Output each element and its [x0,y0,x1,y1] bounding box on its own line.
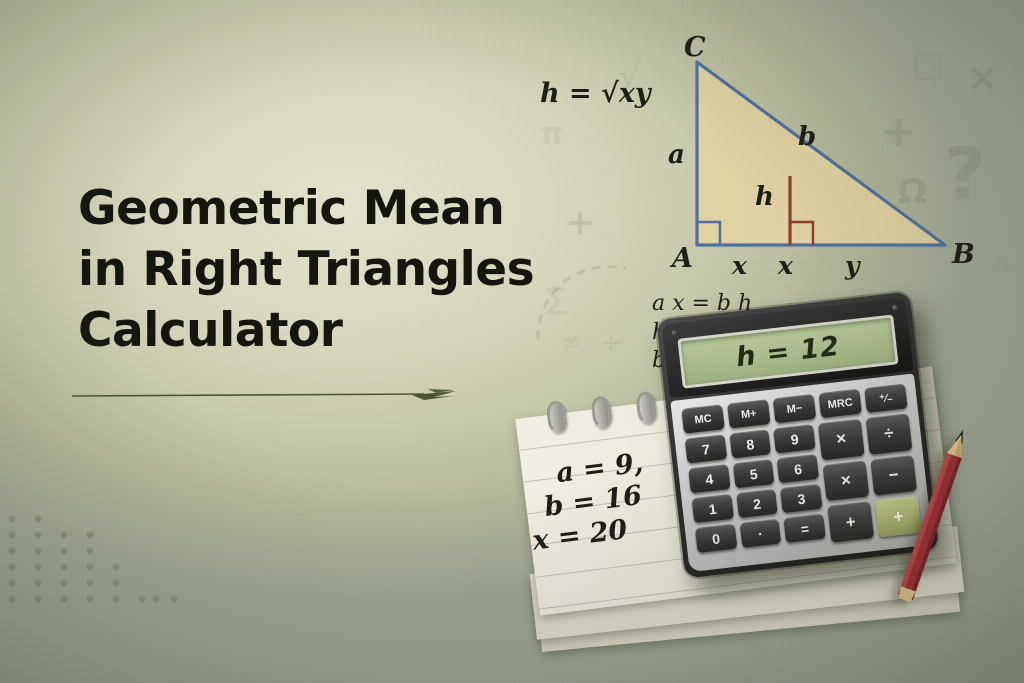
key-6[interactable]: 6 [777,454,819,483]
leg-label-b: b [798,122,816,152]
key-4[interactable]: 4 [688,464,730,493]
right-triangle-diagram: h = √xy C A B a b h x x y [520,34,1000,294]
operator-column-right: ÷ − + [866,413,922,537]
screw-icon [671,330,677,336]
leg-label-a: a [668,140,685,170]
formula-geometric-mean: h = √xy [540,78,651,109]
vertex-label-b: B [952,239,975,270]
key-9[interactable]: 9 [773,424,815,453]
key-5[interactable]: 5 [732,459,774,488]
key-plus-green[interactable]: + [875,496,922,537]
calculator-display: h = 12 [677,314,898,388]
key-2[interactable]: 2 [736,489,778,518]
key-8[interactable]: 8 [729,429,771,458]
poster-canvas: + ? ÷ × Ω π √ ∑ ≠ + □ ∴ Geometric Mean i… [0,0,1024,683]
page-title-line-1: Geometric Mean [78,178,548,239]
key-plus[interactable]: + [827,502,874,543]
spiral-ring [590,395,613,429]
key-multiply[interactable]: × [823,460,870,501]
key-decimal[interactable]: · [739,519,781,548]
key-memory-clear[interactable]: MC [681,404,725,433]
calculator[interactable]: h = 12 MC M+ M− MRC ⁺⁄₋ 7 8 9 [656,291,939,578]
spiral-ring [635,391,658,425]
calculator-display-value: h = 12 [734,330,841,373]
key-divide[interactable]: ÷ [866,413,913,454]
key-memory-plus[interactable]: M+ [727,399,771,428]
key-equals[interactable]: = [784,514,826,543]
key-multiply-top[interactable]: × [818,419,865,460]
segment-label-y: y [845,251,860,280]
notepad-values: a = 9, b = 16 x = 20 [554,448,652,554]
triangle-svg [520,34,1000,294]
page-title-line-2: in Right Triangles [78,239,548,300]
page-title-line-3: Calculator [78,300,548,361]
key-3[interactable]: 3 [780,484,822,513]
operator-column-left: × × + [818,419,874,543]
screw-icon [892,305,898,311]
segment-label-x2: x [778,251,793,280]
key-7[interactable]: 7 [685,434,727,463]
key-memory-recall[interactable]: MRC [818,389,862,418]
key-minus[interactable]: − [870,455,917,496]
segment-label-x1: x [732,251,747,280]
calculator-keypad[interactable]: MC M+ M− MRC ⁺⁄₋ 7 8 9 4 5 6 [670,373,933,572]
key-sign-toggle[interactable]: ⁺⁄₋ [864,384,908,413]
title-underline-arrow [72,385,462,401]
vertex-label-a: A [672,243,693,274]
key-1[interactable]: 1 [691,494,733,523]
page-title: Geometric Mean in Right Triangles Calcul… [78,178,548,361]
key-0[interactable]: 0 [695,524,737,553]
vertex-label-c: C [684,32,706,63]
spiral-ring [545,400,568,434]
key-memory-minus[interactable]: M− [773,394,817,423]
altitude-label-h: h [755,182,774,212]
corner-dot-grid [8,511,188,631]
